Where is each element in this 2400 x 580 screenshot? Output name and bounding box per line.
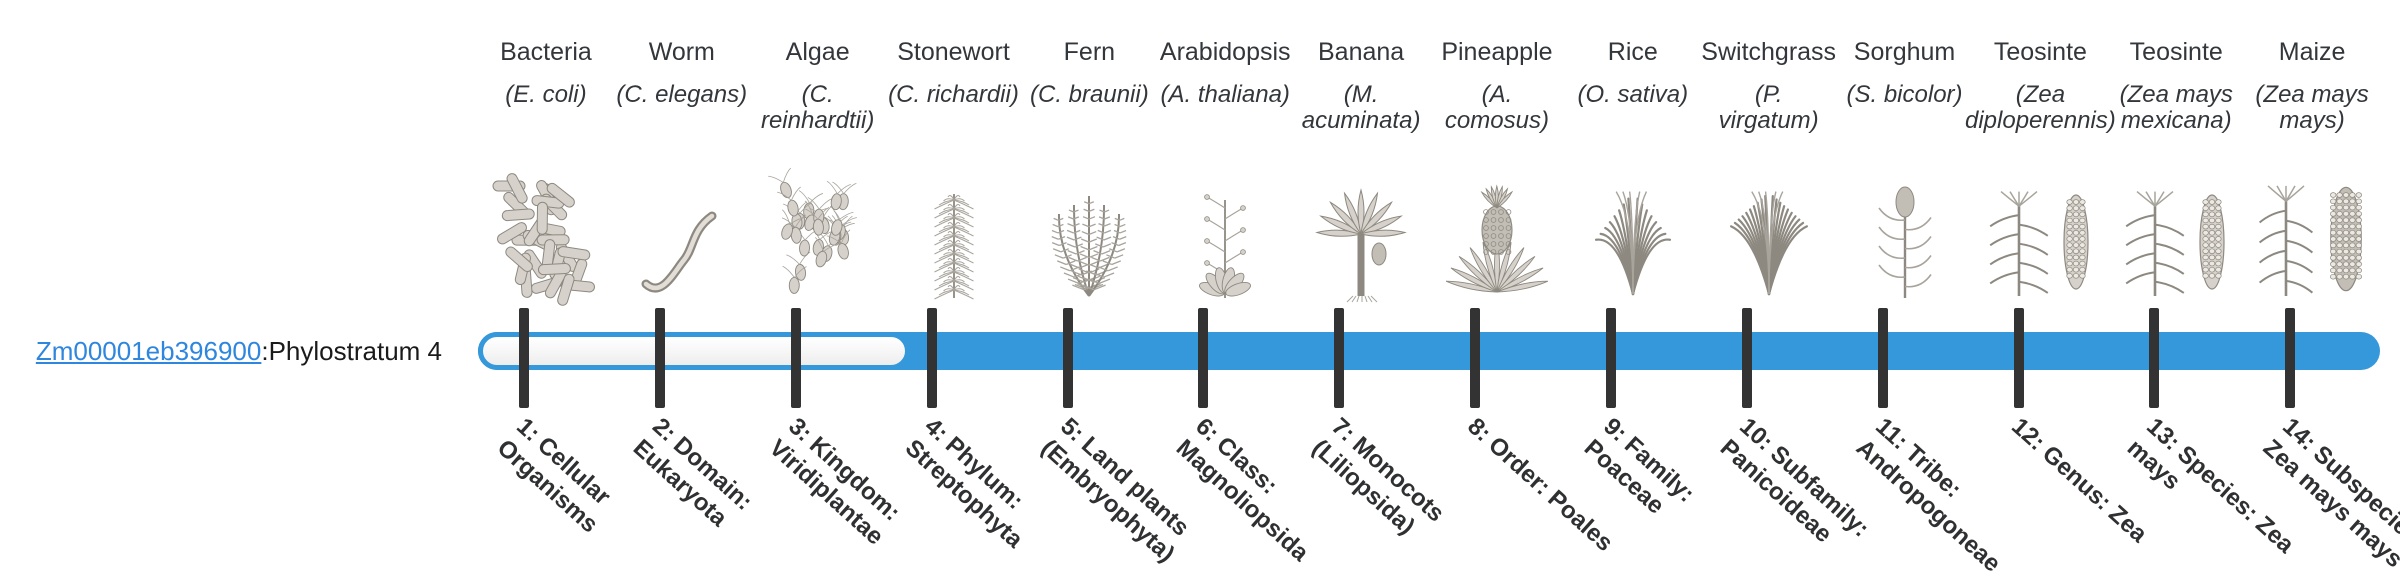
species-scientific-name: (C. braunii) [1029, 82, 1150, 108]
species-column: Pineapple(A. comosus) [1429, 0, 1565, 300]
species-column: Teosinte(Zea diploperennis) [1972, 0, 2108, 300]
species-common-name: Sorghum [1854, 40, 1955, 65]
rice-icon [1574, 168, 1692, 298]
species-column: Fern(C. braunii) [1021, 0, 1157, 300]
species-scientific-name: (Zea mays mexicana) [2108, 82, 2244, 134]
gene-label-separator: : [261, 336, 268, 367]
worm-icon [623, 168, 741, 298]
species-scientific-name: (C. richardii) [887, 82, 1020, 108]
phylostratum-value-text: Phylostratum 4 [269, 336, 442, 367]
species-column: Maize(Zea mays mays) [2244, 0, 2380, 300]
maize-icon [2253, 168, 2371, 298]
species-header-strip: Bacteria(E. coli)Worm(C. elegans)Algae(C… [478, 0, 2380, 300]
switchgrass-icon [1710, 168, 1828, 298]
species-common-name: Fern [1064, 40, 1115, 65]
species-common-name: Rice [1608, 40, 1658, 65]
progress-bar-unfilled-segment [478, 332, 910, 370]
species-column: Worm(C. elegans) [614, 0, 750, 300]
species-scientific-name: (S. bicolor) [1846, 82, 1964, 108]
species-common-name: Maize [2279, 40, 2346, 65]
species-scientific-name: (O. sativa) [1576, 82, 1689, 108]
species-column: Sorghum(S. bicolor) [1837, 0, 1973, 300]
species-column: Teosinte(Zea mays mexicana) [2108, 0, 2244, 300]
species-scientific-name: (C. reinhardtii) [750, 82, 886, 134]
phylostratum-progress-bar[interactable] [478, 332, 2380, 370]
species-column: Bacteria(E. coli) [478, 0, 614, 300]
pineapple-icon [1438, 168, 1556, 298]
banana-icon [1302, 168, 1420, 298]
stonewort-icon [895, 168, 1013, 298]
species-column: Switchgrass(P. virgatum) [1701, 0, 1837, 300]
species-column: Arabidopsis(A. thaliana) [1157, 0, 1293, 300]
sorghum-icon [1846, 168, 1964, 298]
species-column: Rice(O. sativa) [1565, 0, 1701, 300]
algae-icon [759, 168, 877, 298]
species-column: Stonewort(C. richardii) [886, 0, 1022, 300]
species-common-name: Bacteria [500, 40, 592, 65]
species-scientific-name: (P. virgatum) [1701, 82, 1837, 134]
species-common-name: Algae [786, 40, 850, 65]
species-scientific-name: (A. comosus) [1429, 82, 1565, 134]
gene-label: Zm00001eb396900: Phylostratum 4 [0, 332, 452, 370]
species-scientific-name: (Zea mays mays) [2244, 82, 2380, 134]
species-scientific-name: (Zea diploperennis) [1964, 82, 2117, 134]
arabidopsis-icon [1166, 168, 1284, 298]
species-common-name: Worm [649, 40, 715, 65]
species-common-name: Banana [1318, 40, 1404, 65]
species-common-name: Arabidopsis [1160, 40, 1291, 65]
species-scientific-name: (M. acuminata) [1293, 82, 1429, 134]
species-scientific-name: (A. thaliana) [1160, 82, 1291, 108]
gene-id-link[interactable]: Zm00001eb396900 [36, 336, 262, 367]
fern-icon [1030, 168, 1148, 298]
species-scientific-name: (E. coli) [504, 82, 587, 108]
species-common-name: Pineapple [1441, 40, 1552, 65]
species-common-name: Switchgrass [1701, 40, 1836, 65]
phylostratum-figure: Bacteria(E. coli)Worm(C. elegans)Algae(C… [0, 0, 2400, 580]
teosinte-icon [2117, 168, 2235, 298]
species-column: Algae(C. reinhardtii) [750, 0, 886, 300]
species-common-name: Teosinte [2130, 40, 2223, 65]
bacteria-icon [487, 168, 605, 298]
species-scientific-name: (C. elegans) [615, 82, 748, 108]
species-common-name: Teosinte [1994, 40, 2087, 65]
species-column: Banana(M. acuminata) [1293, 0, 1429, 300]
taxonomy-label-strip: 1: Cellular Organisms2: Domain: Eukaryot… [478, 408, 2380, 580]
teosinte-icon [1981, 168, 2099, 298]
species-common-name: Stonewort [897, 40, 1010, 65]
